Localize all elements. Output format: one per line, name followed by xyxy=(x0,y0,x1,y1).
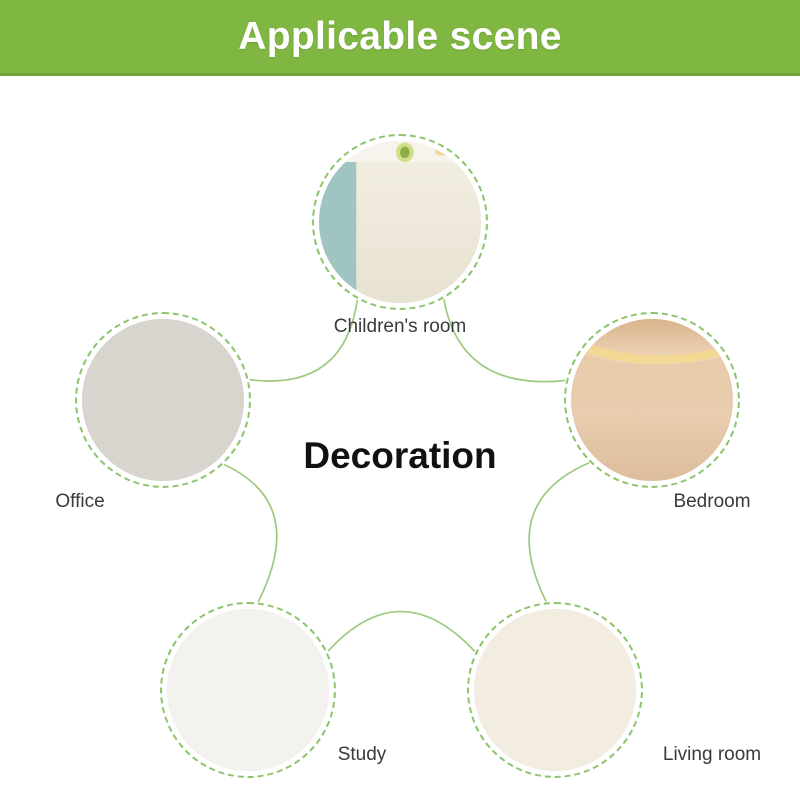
scene-label-bedroom: Bedroom xyxy=(673,491,750,513)
scene-node-study[interactable] xyxy=(160,602,336,778)
scene-label-living-room: Living room xyxy=(663,744,761,766)
scene-label-office: Office xyxy=(55,491,104,513)
center-label: Decoration xyxy=(303,435,496,477)
scene-node-bedroom[interactable] xyxy=(564,312,740,488)
scene-label-study: Study xyxy=(338,744,387,766)
scene-node-childrens-room[interactable] xyxy=(312,134,488,310)
applicable-scene-infographic: Applicable scene xyxy=(0,0,800,800)
dashed-ring-office xyxy=(75,312,251,488)
dashed-ring-childrens-room xyxy=(312,134,488,310)
dashed-ring-bedroom xyxy=(564,312,740,488)
scene-label-childrens-room: Children's room xyxy=(334,316,466,338)
dashed-ring-study xyxy=(160,602,336,778)
connector-office-to-childrens-room xyxy=(250,300,358,381)
connector-living-room-to-study xyxy=(328,612,475,652)
scene-node-office[interactable] xyxy=(75,312,251,488)
dashed-ring-living-room xyxy=(467,602,643,778)
connector-childrens-room-to-bedroom xyxy=(444,299,565,381)
scene-node-living-room[interactable] xyxy=(467,602,643,778)
